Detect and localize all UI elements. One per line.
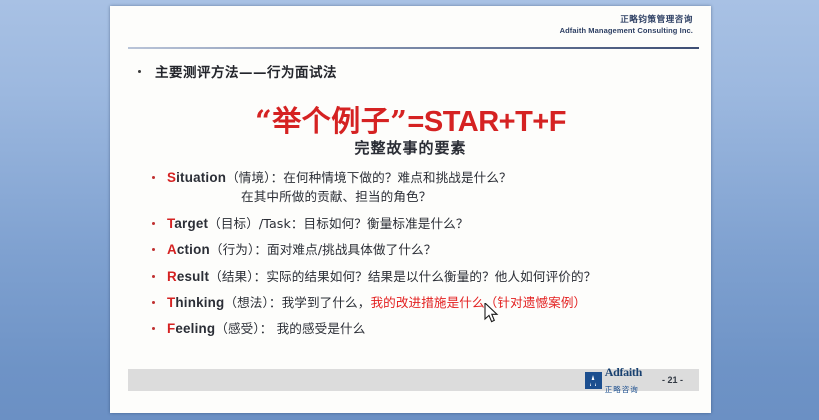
- keyword-rest: eeling: [175, 321, 215, 336]
- keyword: Result: [167, 269, 209, 284]
- keyword: Action: [167, 242, 210, 257]
- keyword-label: （目标）/Task：: [208, 216, 303, 231]
- list-item-content: Situation（情境）：在何种情境下做的？难点和挑战是什么？在其中所做的贡献…: [167, 168, 703, 207]
- header-divider: [128, 47, 699, 49]
- bullet-dot-icon: [138, 70, 141, 73]
- list-item: Result（结果）：实际的结果如何？结果是以什么衡量的？他人如何评价的？: [152, 267, 703, 286]
- page-number: - 21 -: [662, 375, 683, 385]
- list-item: Thinking（想法）：我学到了什么，我的改进措施是什么（针对遗憾案例）: [152, 293, 703, 312]
- slide-header: 正略钧策管理咨询 Adfaith Management Consulting I…: [560, 16, 693, 35]
- presentation-slide: 正略钧策管理咨询 Adfaith Management Consulting I…: [110, 6, 711, 413]
- slide-footer: Adfaith 正略咨询 - 21 -: [128, 369, 699, 391]
- list-item-content: Result（结果）：实际的结果如何？结果是以什么衡量的？他人如何评价的？: [167, 267, 703, 286]
- header-company-name-cn: 正略钧策管理咨询: [560, 16, 693, 26]
- item-text-highlight: 我的改进措施是什么（针对遗憾案例）: [370, 295, 586, 310]
- keyword-rest: arget: [174, 216, 208, 231]
- item-text: 实际的结果如何？结果是以什么衡量的？他人如何评价的？: [266, 269, 596, 284]
- list-item-content: Feeling（感受）： 我的感受是什么: [167, 319, 703, 338]
- bullet-dot-icon: [152, 275, 155, 278]
- headline-cn: “举个例子”: [255, 104, 407, 138]
- list-item-content: Thinking（想法）：我学到了什么，我的改进措施是什么（针对遗憾案例）: [167, 293, 703, 312]
- item-text: 在何种情境下做的？难点和挑战是什么？: [283, 170, 512, 185]
- headline-formula: =STAR+T+F: [407, 106, 566, 138]
- headline-subtitle: 完整故事的要素: [110, 137, 711, 158]
- slide-title: 主要测评方法——行为面试法: [138, 61, 337, 81]
- bullet-dot-icon: [152, 327, 155, 330]
- item-text: 面对难点/挑战具体做了什么？: [267, 242, 436, 257]
- adfaith-logo: Adfaith 正略咨询: [585, 364, 642, 396]
- keyword-initial: A: [167, 242, 177, 257]
- bullet-dot-icon: [152, 176, 155, 179]
- list-item-content: Target（目标）/Task：目标如何？衡量标准是什么？: [167, 214, 703, 233]
- keyword: Thinking: [167, 295, 224, 310]
- keyword-rest: hinking: [175, 295, 224, 310]
- item-text: 我的感受是什么: [272, 321, 365, 336]
- keyword: Feeling: [167, 321, 215, 336]
- list-item: Target（目标）/Task：目标如何？衡量标准是什么？: [152, 214, 703, 233]
- item-text: 我学到了什么，: [282, 295, 371, 310]
- list-item-content: Action（行为）：面对难点/挑战具体做了什么？: [167, 240, 703, 259]
- keyword-rest: ction: [177, 242, 210, 257]
- star-framework-list: Situation（情境）：在何种情境下做的？难点和挑战是什么？在其中所做的贡献…: [152, 168, 703, 346]
- keyword-label: （行为）：: [210, 242, 267, 257]
- item-text: 目标如何？衡量标准是什么？: [304, 216, 469, 231]
- header-company-name-en: Adfaith Management Consulting Inc.: [560, 27, 693, 36]
- keyword-rest: esult: [177, 269, 209, 284]
- keyword: Situation: [167, 170, 226, 185]
- keyword-initial: R: [167, 269, 177, 284]
- keyword-label: （想法）：: [224, 295, 281, 310]
- list-item: Action（行为）：面对难点/挑战具体做了什么？: [152, 240, 703, 259]
- headline: “举个例子”=STAR+T+F: [110, 98, 711, 140]
- keyword-label: （结果）：: [209, 269, 266, 284]
- item-text-line2: 在其中所做的贡献、担当的角色？: [241, 188, 703, 206]
- keyword-label: （感受）：: [215, 321, 272, 336]
- list-item: Situation（情境）：在何种情境下做的？难点和挑战是什么？在其中所做的贡献…: [152, 168, 703, 207]
- keyword-initial: S: [167, 170, 176, 185]
- adfaith-logo-icon: [585, 372, 602, 389]
- keyword: Target: [167, 216, 208, 231]
- bullet-dot-icon: [152, 248, 155, 251]
- keyword-rest: ituation: [176, 170, 226, 185]
- logo-text-cn: 正略咨询: [605, 385, 639, 394]
- list-item: Feeling（感受）： 我的感受是什么: [152, 319, 703, 338]
- bullet-dot-icon: [152, 222, 155, 225]
- slide-title-text: 主要测评方法——行为面试法: [155, 61, 337, 81]
- slideshow-viewer: 正略钧策管理咨询 Adfaith Management Consulting I…: [0, 0, 819, 420]
- logo-text-en: Adfaith: [605, 365, 642, 379]
- bullet-dot-icon: [152, 301, 155, 304]
- keyword-label: （情境）：: [226, 170, 283, 185]
